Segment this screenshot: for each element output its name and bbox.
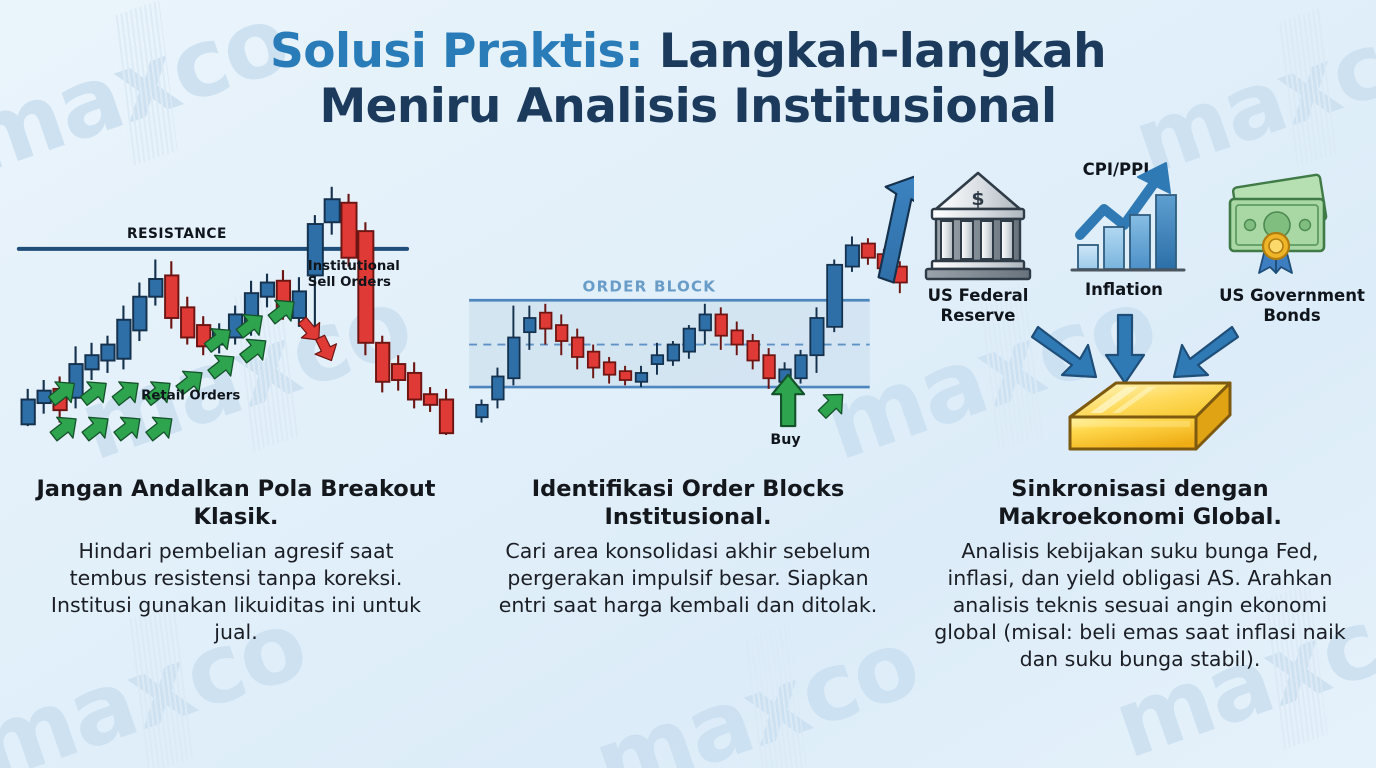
bank-label-line1: US Federal <box>928 286 1029 305</box>
gold-bar-icon <box>1070 383 1230 449</box>
institutional-sell-label-line1: Institutional <box>308 259 400 274</box>
svg-text:$: $ <box>971 188 984 210</box>
banknotes-icon <box>1230 174 1327 273</box>
bank-label-line2: Reserve <box>941 306 1016 325</box>
title-accent-text: Solusi Praktis: <box>270 24 643 79</box>
inflation-bar-3 <box>1130 215 1150 269</box>
column-body: Cari area konsolidasi akhir sebelum perg… <box>492 538 884 619</box>
bonds-label-line1: US Government <box>1219 286 1365 305</box>
resistance-label: RESISTANCE <box>127 226 227 242</box>
institutional-sell-arrows-group <box>293 313 342 366</box>
column-breakout: .bull { fill:#2f6fa8; stroke:#14314d; st… <box>10 149 462 673</box>
institutional-sell-label-line2: Sell Orders <box>308 275 391 290</box>
order-block-chart: .b2 { fill:#2f6fa8; stroke:#14314d; stro… <box>462 149 914 471</box>
page-title: Solusi Praktis: Langkah-langkah Meniru A… <box>0 0 1376 135</box>
inflation-label: Inflation <box>1085 280 1163 299</box>
column-heading: Sinkronisasi dengan Makroekonomi Global. <box>940 475 1340 532</box>
title-line-2: Meniru Analisis Institusional <box>0 79 1376 134</box>
inflation-bar-2 <box>1104 227 1124 269</box>
column-macro: $ US Federal Reserve CPI/PPI <box>914 149 1366 673</box>
order-block-label: ORDER BLOCK <box>583 277 717 295</box>
breakout-chart: .bull { fill:#2f6fa8; stroke:#14314d; st… <box>10 149 462 471</box>
column-heading: Identifikasi Order Blocks Institusional. <box>488 475 888 532</box>
bank-icon: $ <box>926 173 1030 279</box>
candle-group-breakout <box>308 187 453 435</box>
title-line-1-rest: Langkah-langkah <box>643 24 1106 79</box>
macro-diagram: $ US Federal Reserve CPI/PPI <box>914 149 1366 471</box>
retail-orders-label: Retail Orders <box>141 388 240 403</box>
column-body: Hindari pembelian agresif saat tembus re… <box>50 538 422 646</box>
bullish-trend-arrow <box>879 176 914 282</box>
column-body: Analisis kebijakan suku bunga Fed, infla… <box>930 538 1350 673</box>
macro-icons-svg: $ US Federal Reserve CPI/PPI <box>914 149 1366 471</box>
content-columns: .bull { fill:#2f6fa8; stroke:#14314d; st… <box>0 135 1376 673</box>
macro-influence-arrows <box>1032 315 1238 383</box>
column-heading: Jangan Andalkan Pola Breakout Klasik. <box>36 475 436 532</box>
inflation-bar-4 <box>1156 195 1176 269</box>
breakout-candlestick-svg: .bull { fill:#2f6fa8; stroke:#14314d; st… <box>10 149 462 471</box>
buy-label: Buy <box>770 432 800 448</box>
bonds-label-line2: Bonds <box>1263 306 1320 325</box>
inflation-bar-1 <box>1078 245 1098 269</box>
inflation-chart-icon: CPI/PPI <box>1072 160 1184 270</box>
title-line-1: Solusi Praktis: Langkah-langkah <box>0 24 1376 79</box>
order-block-candlestick-svg: .b2 { fill:#2f6fa8; stroke:#14314d; stro… <box>462 149 914 471</box>
column-order-block: .b2 { fill:#2f6fa8; stroke:#14314d; stro… <box>462 149 914 673</box>
